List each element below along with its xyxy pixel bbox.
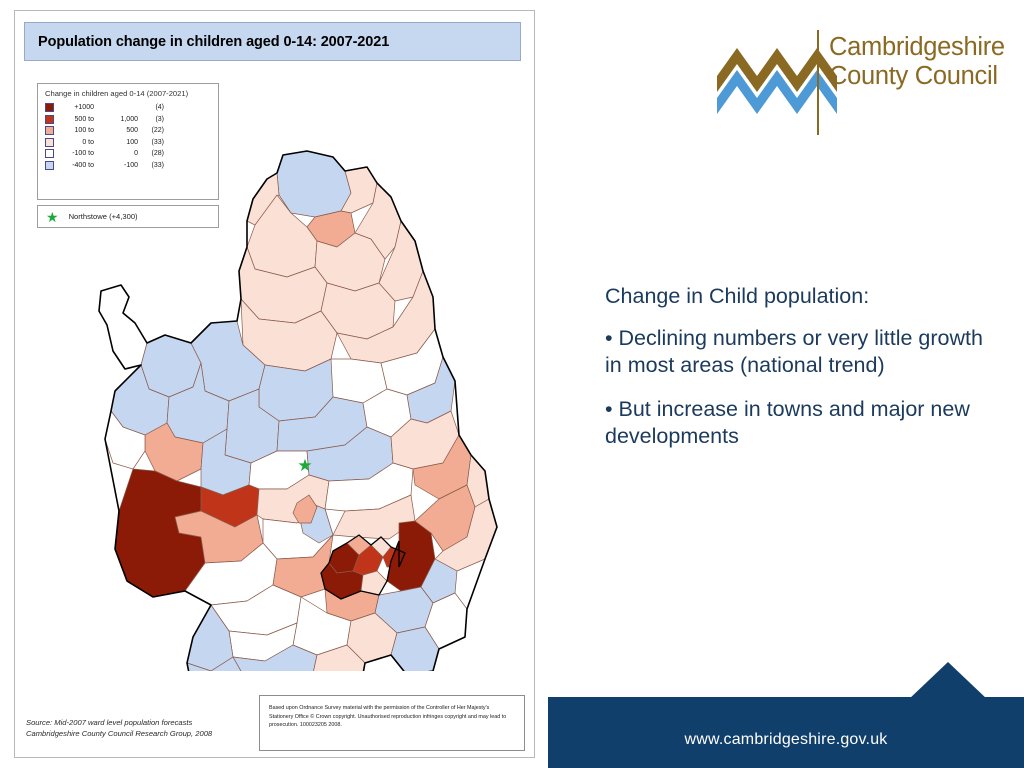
footer-peak-shape-icon xyxy=(548,660,1024,700)
ward-polygon xyxy=(99,285,147,369)
logo-blue-chevrons-icon xyxy=(717,70,837,114)
logo-divider xyxy=(817,30,819,135)
map-title-bar: Population change in children aged 0-14:… xyxy=(24,22,521,61)
source-credit: Source: Mid-2007 ward level population f… xyxy=(26,717,212,739)
ordnance-survey-copyright-box: Based upon Ordnance Survey material with… xyxy=(259,695,525,751)
logo-line-2: County Council xyxy=(829,62,1005,91)
slide-footer: www.cambridgeshire.gov.uk xyxy=(548,660,1024,768)
copyright-text: Based upon Ordnance Survey material with… xyxy=(269,704,515,730)
map-title: Population change in children aged 0-14:… xyxy=(25,34,389,50)
body-bullet-2: • But increase in towns and major new de… xyxy=(605,396,990,451)
footer-url: www.cambridgeshire.gov.uk xyxy=(548,731,1024,749)
ward-polygon xyxy=(277,151,351,217)
source-line-1: Source: Mid-2007 ward level population f… xyxy=(26,717,212,728)
body-heading: Change in Child population: xyxy=(605,283,990,311)
choropleth-map: ★ xyxy=(15,71,536,671)
logo-line-1: Cambridgeshire xyxy=(829,33,1005,62)
logo-wordmark: Cambridgeshire County Council xyxy=(829,33,1005,91)
green-star-marker-icon: ★ xyxy=(297,456,312,475)
map-panel: Population change in children aged 0-14:… xyxy=(14,10,535,758)
slide-body-text: Change in Child population: • Declining … xyxy=(605,283,990,467)
body-bullet-1: • Declining numbers or very little growt… xyxy=(605,325,990,380)
source-line-2: Cambridgeshire County Council Research G… xyxy=(26,728,212,739)
